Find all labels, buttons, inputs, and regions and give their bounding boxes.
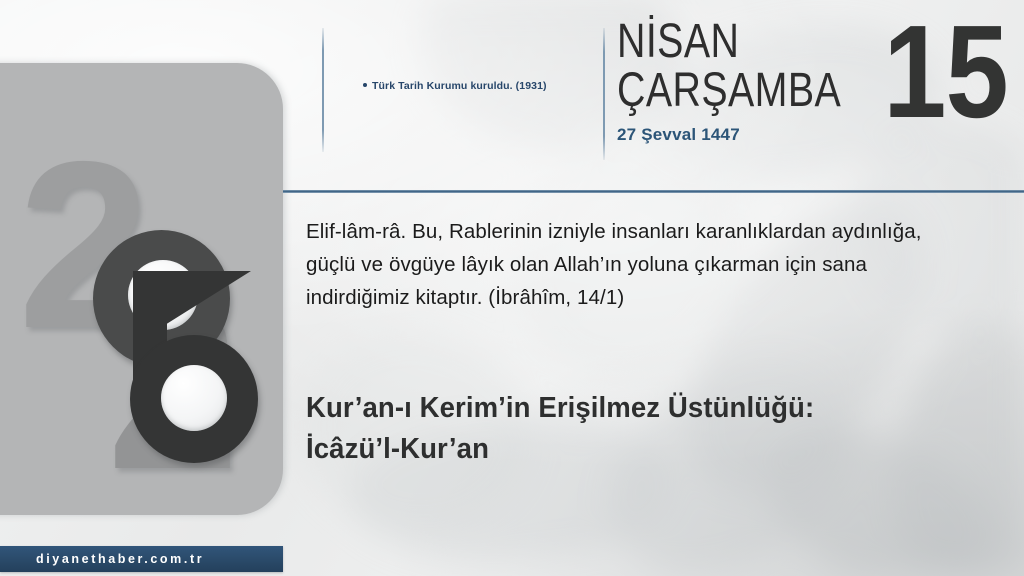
logo-six-counter	[161, 365, 227, 431]
bullet-icon	[363, 83, 367, 87]
calendar-page: 2 2 Türk Tarih Kurumu kuruldu. (1931) Nİ…	[0, 0, 1024, 576]
verse-text: Elif-lâm-râ. Bu, Rablerinin izniyle insa…	[306, 215, 956, 315]
year-logo-2026: 2 2	[0, 63, 283, 515]
divider-horizontal	[283, 190, 1024, 193]
website-url-bar[interactable]: diyanethaber.com.tr	[0, 546, 283, 572]
day-number: 15	[883, 6, 1008, 138]
divider-vertical-left	[322, 28, 324, 152]
historic-note: Türk Tarih Kurumu kuruldu. (1931)	[363, 80, 578, 94]
hijri-date-label: 27 Şevval 1447	[617, 125, 867, 145]
date-block: NİSAN ÇARŞAMBA 27 Şevval 1447	[617, 20, 867, 145]
month-label: NİSAN	[617, 20, 822, 65]
logo-digit-six	[130, 335, 258, 463]
historic-note-text: Türk Tarih Kurumu kuruldu. (1931)	[372, 80, 547, 92]
weekday-label: ÇARŞAMBA	[617, 69, 822, 114]
divider-vertical-right	[603, 28, 605, 160]
article-headline: Kur’an-ı Kerim’in Erişilmez Üstünlüğü: İ…	[306, 388, 914, 470]
website-url-text: diyanethaber.com.tr	[36, 552, 204, 566]
